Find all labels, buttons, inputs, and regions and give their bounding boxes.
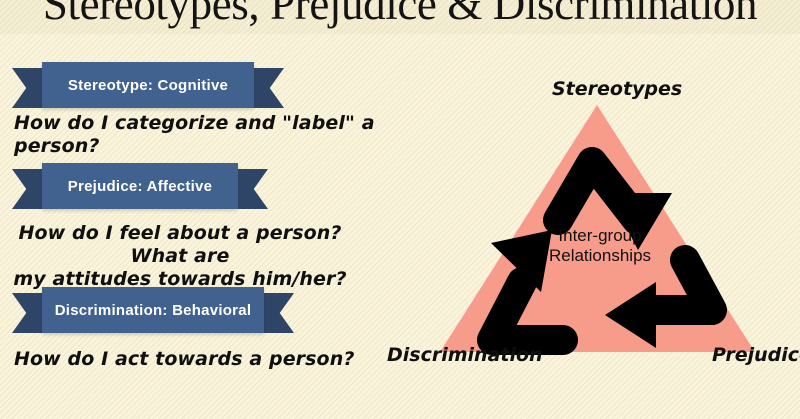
question-prejudice-line1: How do I feel about a person? What are bbox=[18, 222, 341, 267]
vertex-label-stereotypes: Stereotypes bbox=[552, 78, 682, 100]
ribbon-tail-left-icon bbox=[12, 293, 46, 333]
question-discrimination: How do I act towards a person? bbox=[14, 348, 394, 371]
question-stereotype: How do I categorize and "label" a person… bbox=[14, 112, 394, 158]
ribbon-tail-right-icon bbox=[234, 169, 268, 209]
vertex-label-prejudice: Prejudice bbox=[712, 344, 800, 366]
ribbon-label-stereotype: Stereotype: Cognitive bbox=[68, 77, 228, 94]
diagram-center-label: Inter-group Relationships bbox=[520, 226, 680, 266]
center-label-line2: Relationships bbox=[520, 246, 680, 266]
question-stereotype-line1: How do I categorize and "label" a person… bbox=[14, 112, 375, 157]
ribbon-tail-right-icon bbox=[250, 68, 284, 108]
ribbon-tail-left-icon bbox=[12, 68, 46, 108]
title-band: Stereotypes, Prejudice & Discrimination bbox=[0, 0, 800, 34]
ribbon-body: Discrimination: Behavioral bbox=[42, 287, 264, 333]
vertex-label-discrimination: Discrimination bbox=[387, 344, 543, 366]
center-label-line1: Inter-group bbox=[558, 226, 641, 245]
slide-canvas: Stereotypes, Prejudice & Discrimination … bbox=[0, 0, 800, 419]
page-title: Stereotypes, Prejudice & Discrimination bbox=[0, 0, 800, 27]
ribbon-body: Stereotype: Cognitive bbox=[42, 62, 254, 108]
question-discrimination-line1: How do I act towards a person? bbox=[14, 348, 354, 370]
ribbon-stereotype: Stereotype: Cognitive bbox=[42, 62, 254, 98]
intergroup-relationships-diagram: Stereotypes Discrimination Prejudice Int… bbox=[400, 60, 800, 410]
question-prejudice: How do I feel about a person? What are m… bbox=[10, 222, 350, 291]
ribbon-label-discrimination: Discrimination: Behavioral bbox=[55, 302, 252, 319]
ribbon-discrimination: Discrimination: Behavioral bbox=[42, 287, 264, 323]
ribbon-label-prejudice: Prejudice: Affective bbox=[68, 178, 213, 195]
ribbon-prejudice: Prejudice: Affective bbox=[42, 163, 238, 199]
ribbon-body: Prejudice: Affective bbox=[42, 163, 238, 209]
ribbon-tail-right-icon bbox=[260, 293, 294, 333]
ribbon-tail-left-icon bbox=[12, 169, 46, 209]
